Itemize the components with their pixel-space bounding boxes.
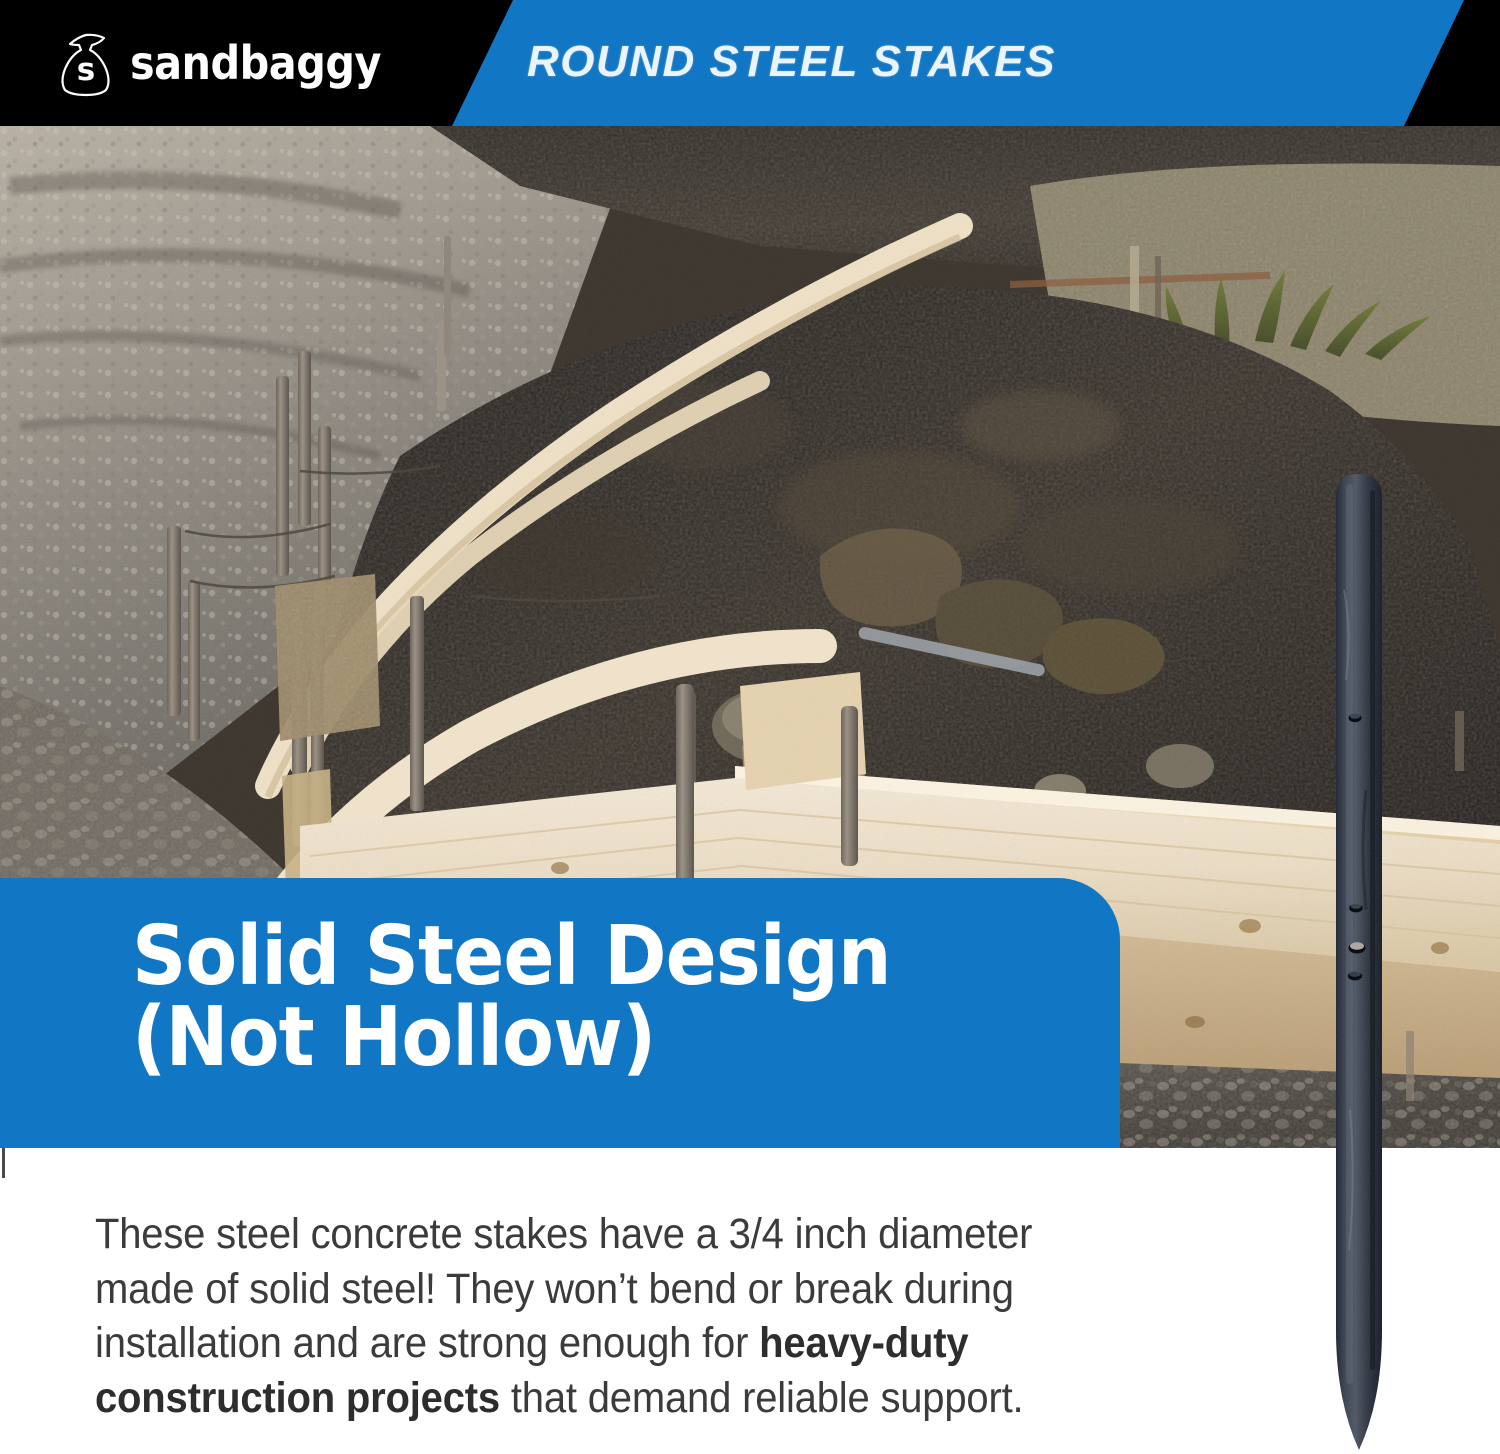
brand-name: sandbaggy xyxy=(130,40,381,86)
infographic-page: s sandbaggy ROUND STEEL STAKES xyxy=(0,0,1500,1454)
header-title: ROUND STEEL STAKES xyxy=(527,40,1056,84)
sandbag-icon: s xyxy=(56,28,116,98)
body-copy-part2: that demand reliable support. xyxy=(500,1374,1024,1422)
left-edge-mark xyxy=(2,1146,5,1178)
svg-text:s: s xyxy=(77,52,95,88)
body-copy: These steel concrete stakes have a 3/4 i… xyxy=(95,1207,1127,1425)
brand-logo[interactable]: s sandbaggy xyxy=(56,25,381,101)
headline-line-2: (Not Hollow) xyxy=(132,997,1015,1078)
header-bar: s sandbaggy ROUND STEEL STAKES xyxy=(0,0,1500,126)
headline-text: Solid Steel Design (Not Hollow) xyxy=(132,916,1015,1078)
